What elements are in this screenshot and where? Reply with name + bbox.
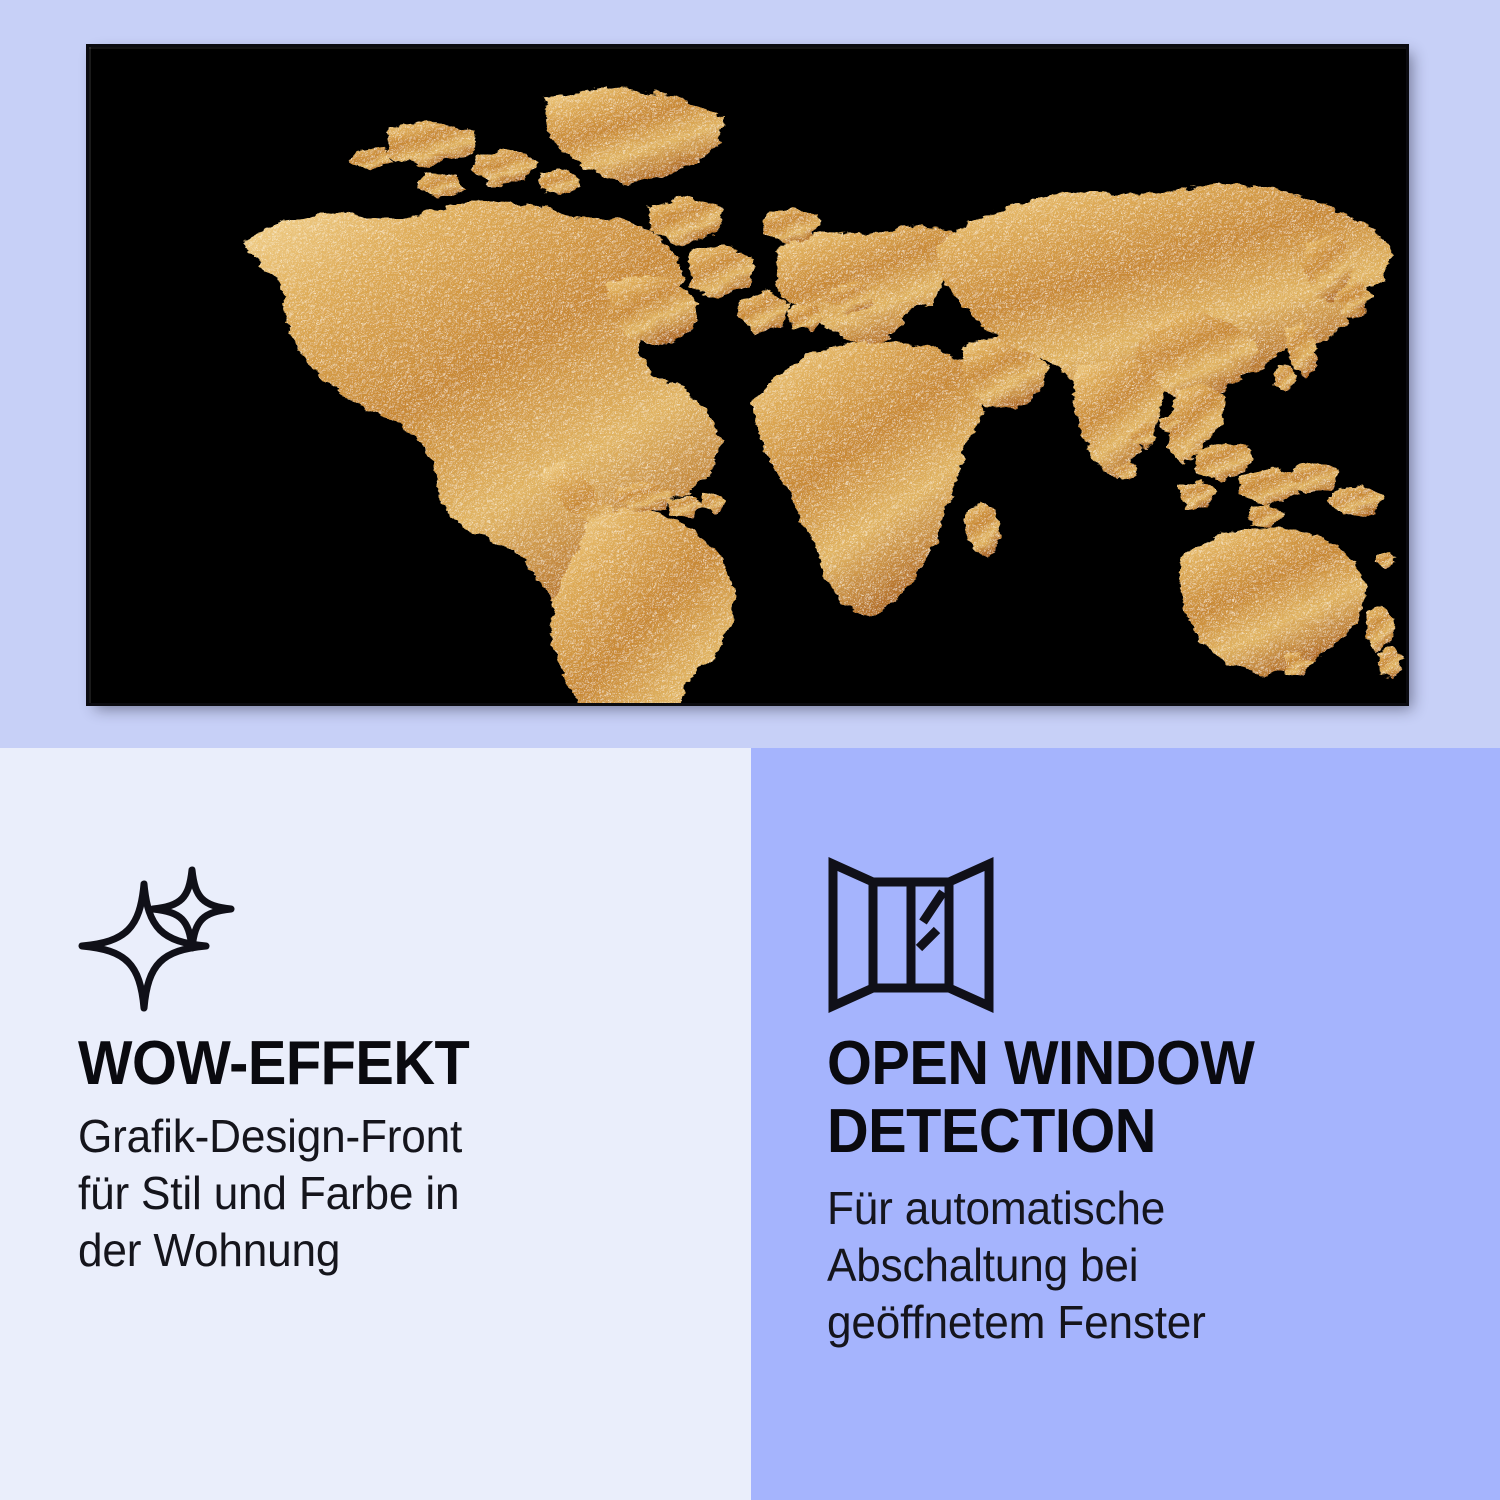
framed-artwork-panel bbox=[89, 47, 1406, 703]
feature-panels: WOW-EFFEKT Grafik-Design-Front für Stil … bbox=[0, 748, 1500, 1500]
sparkle-icon bbox=[78, 856, 751, 1026]
open-window-icon-svg bbox=[827, 856, 995, 1014]
hero-band bbox=[0, 0, 1500, 748]
open-window-icon bbox=[827, 856, 1500, 1026]
sparkle-icon-svg bbox=[78, 856, 238, 1016]
feature-body: Für automatische Abschaltung bei geöffne… bbox=[827, 1180, 1473, 1351]
feature-panel-open-window-detection: OPEN WINDOW DETECTION Für automatische A… bbox=[751, 748, 1500, 1500]
feature-body: Grafik-Design-Front für Stil und Farbe i… bbox=[78, 1108, 724, 1279]
feature-title: OPEN WINDOW DETECTION bbox=[827, 1030, 1453, 1166]
feature-title: WOW-EFFEKT bbox=[78, 1030, 704, 1098]
world-map-artwork bbox=[89, 47, 1406, 703]
feature-panel-wow-effekt: WOW-EFFEKT Grafik-Design-Front für Stil … bbox=[0, 748, 751, 1500]
product-feature-graphic: WOW-EFFEKT Grafik-Design-Front für Stil … bbox=[0, 0, 1500, 1500]
world-map-svg bbox=[89, 47, 1406, 703]
